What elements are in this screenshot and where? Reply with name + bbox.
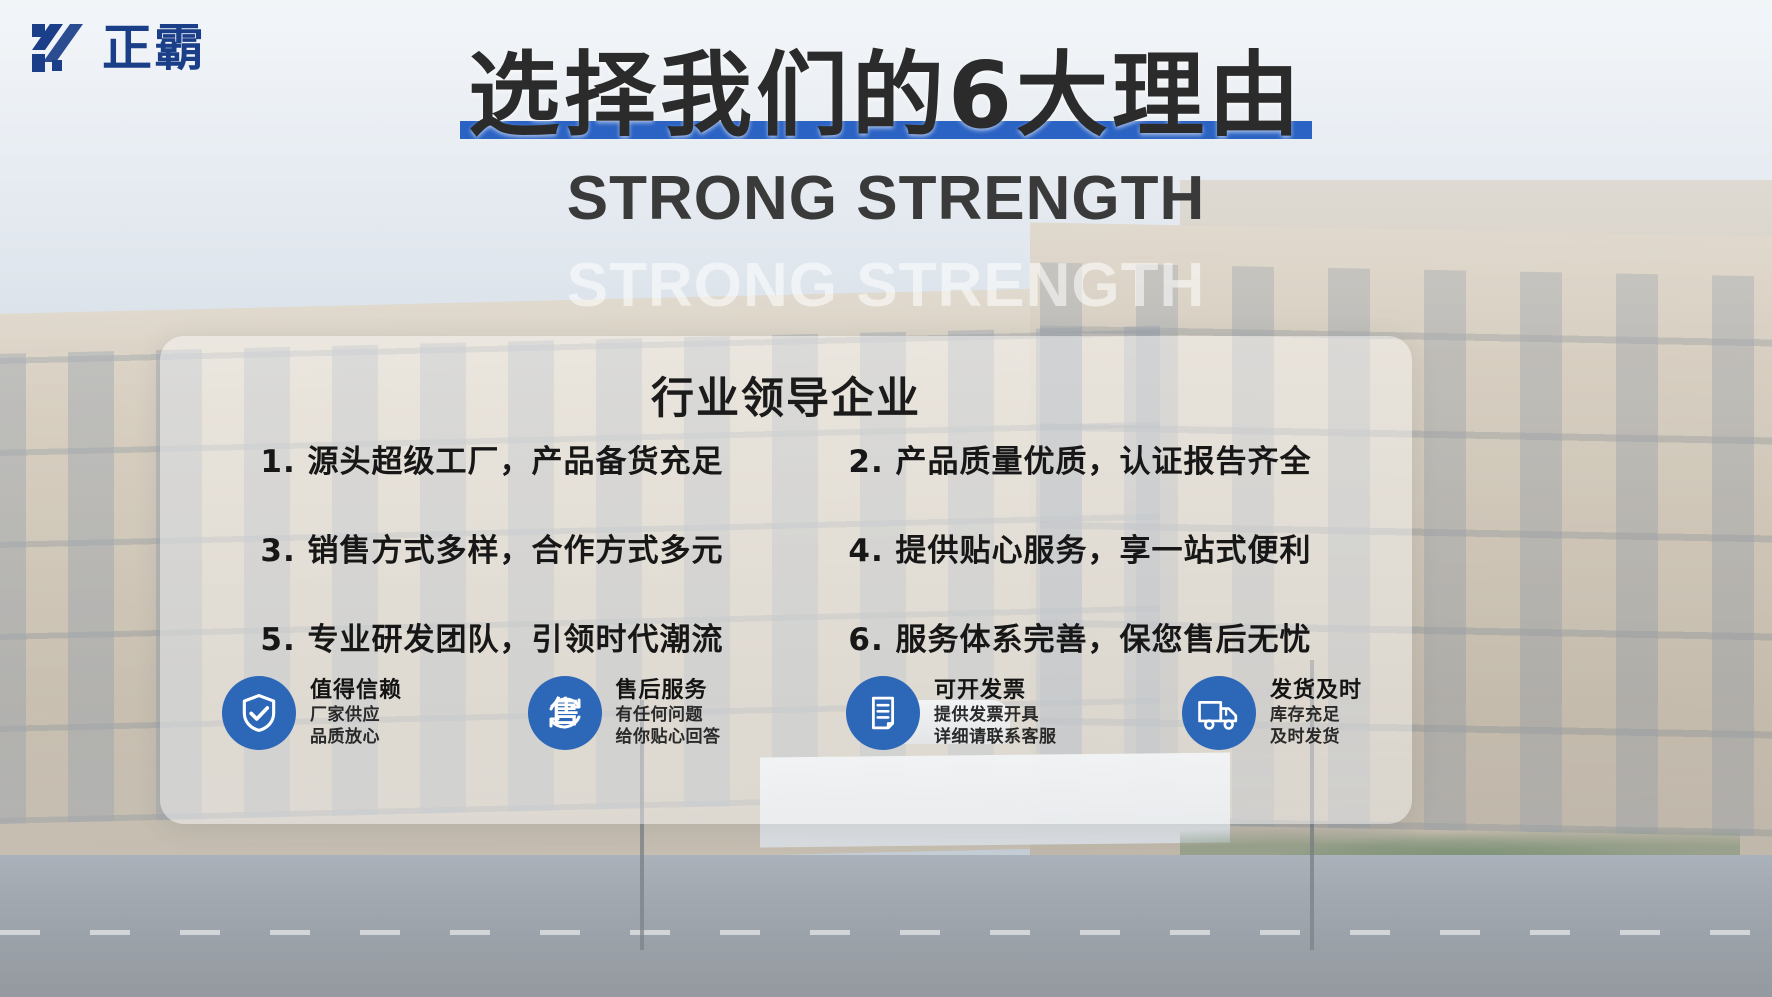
service-badges: 值得信赖 厂家供应 品质放心 售 售后服务	[222, 676, 1362, 750]
badge-line-1: 有任何问题	[616, 705, 721, 727]
badge-heading: 售后服务	[616, 678, 708, 703]
badge-heading: 发货及时	[1270, 678, 1362, 703]
badge-after-sales[interactable]: 售 售后服务 有任何问题 给你贴心回答	[528, 676, 721, 750]
badge-line-2: 品质放心	[310, 727, 402, 749]
zhengba-logo-mark-icon	[30, 20, 94, 76]
reason-item: 3. 销售方式多样，合作方式多元	[210, 525, 774, 570]
badge-delivery[interactable]: 发货及时 库存充足 及时发货	[1182, 676, 1362, 750]
badge-trust[interactable]: 值得信赖 厂家供应 品质放心	[222, 676, 402, 750]
badge-heading: 可开发票	[934, 678, 1026, 703]
badge-line-2: 详细请联系客服	[934, 727, 1057, 749]
badge-text: 发货及时 库存充足 及时发货	[1270, 677, 1362, 749]
badge-text: 可开发票 提供发票开具 详细请联系客服	[934, 677, 1057, 749]
after-sales-icon: 售	[528, 676, 602, 750]
card-title: 行业领导企业	[160, 364, 1412, 426]
reason-item: 2. 产品质量优质，认证报告齐全	[798, 436, 1362, 481]
shield-check-icon	[222, 676, 296, 750]
reason-item: 5. 专业研发团队，引领时代潮流	[210, 614, 774, 659]
brand-name: 正霸	[102, 23, 206, 73]
ghost-subtitle: STRONG STRENGTH	[0, 250, 1772, 321]
badge-text: 值得信赖 厂家供应 品质放心	[310, 677, 402, 749]
badge-line-2: 及时发货	[1270, 727, 1362, 749]
reason-item: 1. 源头超级工厂，产品备货充足	[210, 436, 774, 481]
badge-line-1: 厂家供应	[310, 705, 402, 727]
badge-line-1: 库存充足	[1270, 705, 1362, 727]
badge-heading: 值得信赖	[310, 678, 402, 703]
reason-item: 6. 服务体系完善，保您售后无忧	[798, 614, 1362, 659]
banner-stage: 正霸 STRONG STRENGTH 选择我们的6大理由 STRONG STRE…	[0, 0, 1772, 997]
page-subtitle: STRONG STRENGTH	[0, 163, 1772, 234]
brand-logo[interactable]: 正霸	[30, 20, 206, 76]
delivery-truck-icon	[1182, 676, 1256, 750]
page-title: 选择我们的6大理由	[468, 48, 1304, 145]
badge-invoice[interactable]: 可开发票 提供发票开具 详细请联系客服	[846, 676, 1057, 750]
header-block: 选择我们的6大理由 STRONG STRENGTH	[0, 48, 1772, 234]
strength-card: 行业领导企业 1. 源头超级工厂，产品备货充足 2. 产品质量优质，认证报告齐全…	[160, 336, 1412, 824]
badge-line-2: 给你贴心回答	[616, 727, 721, 749]
badge-text: 售后服务 有任何问题 给你贴心回答	[616, 677, 721, 749]
after-sales-glyph: 售	[550, 696, 580, 731]
invoice-icon	[846, 676, 920, 750]
badge-line-1: 提供发票开具	[934, 705, 1057, 727]
page-title-text: 选择我们的6大理由	[468, 42, 1304, 149]
reasons-list: 1. 源头超级工厂，产品备货充足 2. 产品质量优质，认证报告齐全 3. 销售方…	[210, 436, 1362, 659]
reason-item: 4. 提供贴心服务，享一站式便利	[798, 525, 1362, 570]
